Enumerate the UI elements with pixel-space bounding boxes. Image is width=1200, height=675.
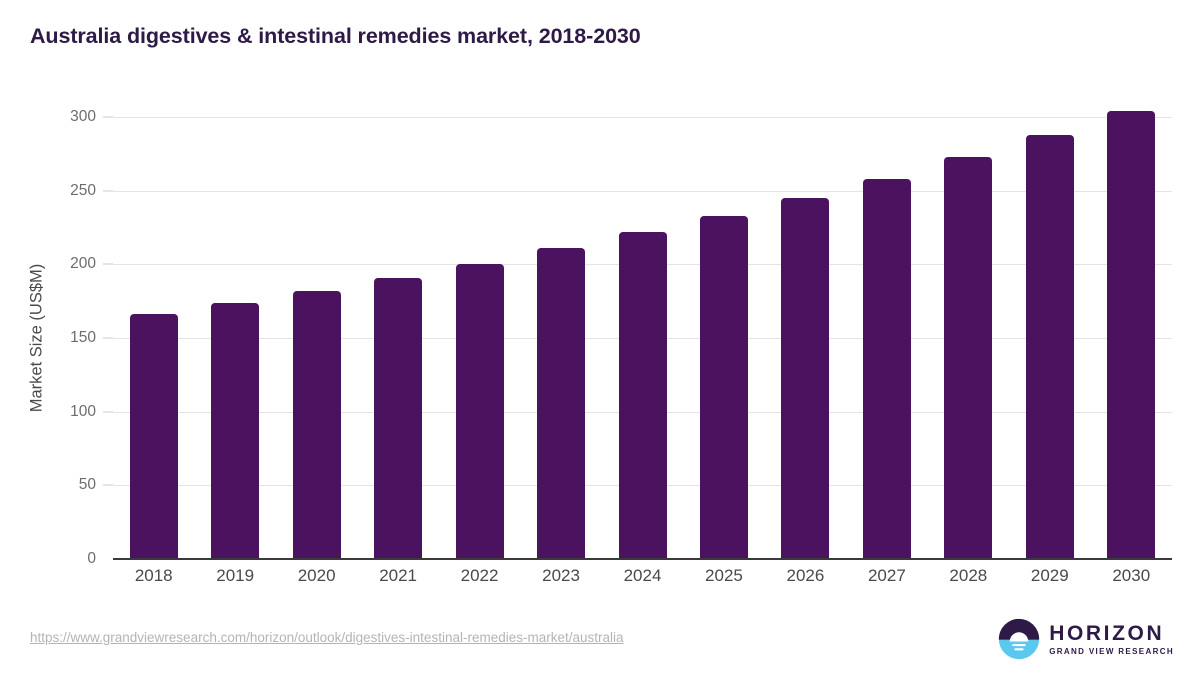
- y-tick-mark: [103, 264, 113, 265]
- source-url-link[interactable]: https://www.grandviewresearch.com/horizo…: [30, 630, 624, 645]
- y-tick-label: 150: [10, 329, 96, 347]
- bar[interactable]: [293, 291, 341, 559]
- y-tick-label: 100: [10, 403, 96, 421]
- y-tick-mark: [103, 117, 113, 118]
- brand-name: HORIZON: [1049, 623, 1174, 644]
- x-tick-label: 2018: [113, 566, 195, 586]
- horizon-logo-icon: [998, 618, 1040, 660]
- x-tick-label: 2022: [439, 566, 521, 586]
- y-tick-label: 0: [10, 550, 96, 568]
- x-tick-label: 2023: [520, 566, 602, 586]
- brand-tagline: GRAND VIEW RESEARCH: [1049, 648, 1174, 656]
- y-tick-label: 200: [10, 255, 96, 273]
- x-tick-label: 2021: [357, 566, 439, 586]
- bar[interactable]: [374, 278, 422, 559]
- x-tick-label: 2028: [927, 566, 1009, 586]
- y-tick-label: 300: [10, 108, 96, 126]
- gridline: [113, 117, 1172, 118]
- x-tick-label: 2025: [683, 566, 765, 586]
- bar[interactable]: [781, 198, 829, 559]
- x-tick-label: 2027: [846, 566, 928, 586]
- y-tick-label: 250: [10, 182, 96, 200]
- x-tick-label: 2020: [276, 566, 358, 586]
- chart-card: Australia digestives & intestinal remedi…: [0, 0, 1200, 675]
- x-tick-label: 2024: [602, 566, 684, 586]
- bar[interactable]: [1107, 111, 1155, 559]
- brand-logo-text: HORIZON GRAND VIEW RESEARCH: [1049, 623, 1174, 656]
- x-axis-line: [113, 558, 1172, 560]
- page-title: Australia digestives & intestinal remedi…: [30, 24, 641, 49]
- bar[interactable]: [619, 232, 667, 559]
- bar[interactable]: [537, 248, 585, 559]
- bar[interactable]: [863, 179, 911, 559]
- bar[interactable]: [700, 216, 748, 559]
- y-tick-mark: [103, 559, 113, 560]
- bar[interactable]: [456, 264, 504, 559]
- gridline: [113, 191, 1172, 192]
- x-tick-label: 2030: [1090, 566, 1172, 586]
- y-tick-mark: [103, 411, 113, 412]
- bar[interactable]: [944, 157, 992, 559]
- x-axis-ticks: 2018201920202021202220232024202520262027…: [113, 566, 1172, 596]
- x-tick-label: 2029: [1009, 566, 1091, 586]
- y-tick-mark: [103, 338, 113, 339]
- y-tick-mark: [103, 485, 113, 486]
- brand-logo: HORIZON GRAND VIEW RESEARCH: [998, 618, 1174, 660]
- x-tick-label: 2026: [764, 566, 846, 586]
- plot-area: [113, 117, 1172, 559]
- bar[interactable]: [211, 303, 259, 559]
- y-tick-mark: [103, 190, 113, 191]
- y-tick-label: 50: [10, 476, 96, 494]
- x-tick-label: 2019: [194, 566, 276, 586]
- bar[interactable]: [1026, 135, 1074, 559]
- bar[interactable]: [130, 314, 178, 559]
